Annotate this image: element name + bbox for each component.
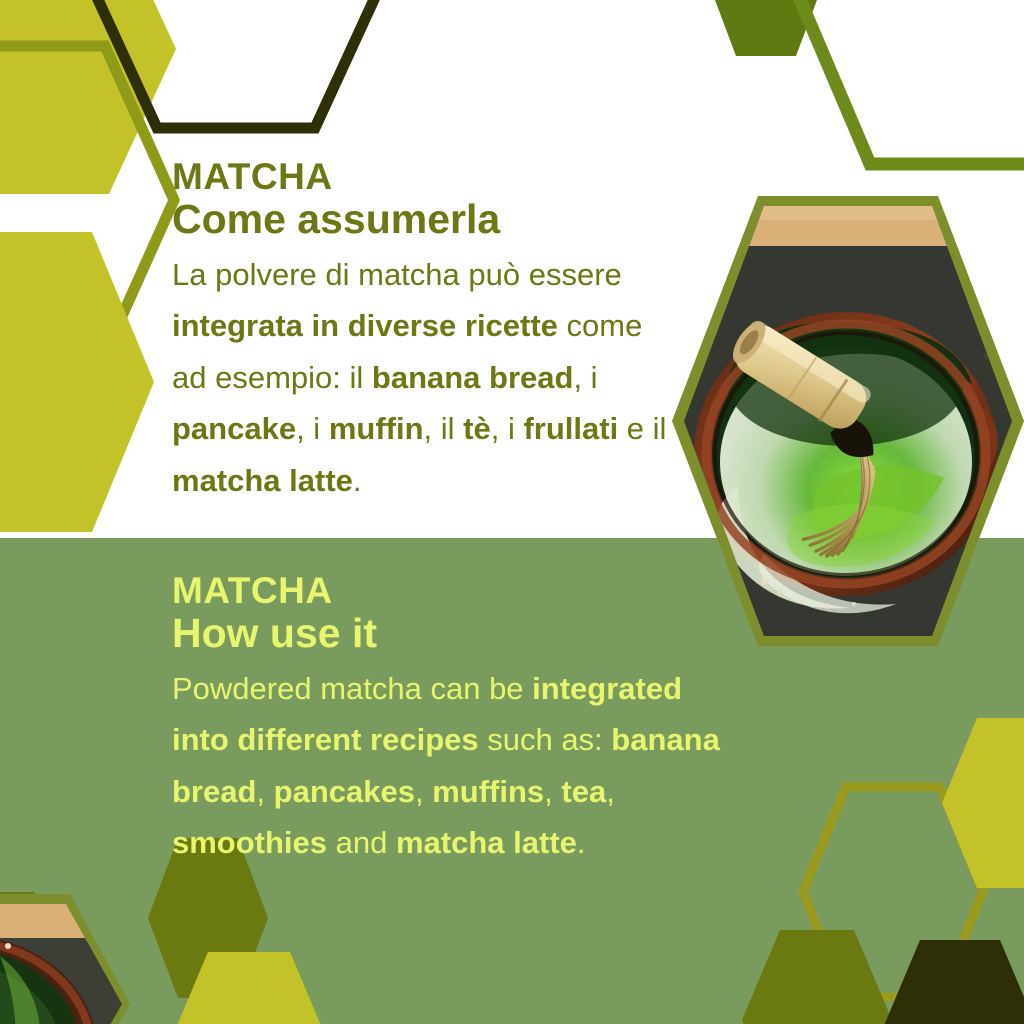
text-layer: MATCHA Come assumerla La polvere di matc… [0,0,1024,1024]
poster-canvas: MATCHA Come assumerla La polvere di matc… [0,0,1024,1024]
italian-body: La polvere di matcha può essere integrat… [172,249,672,506]
italian-kicker: MATCHA [172,158,672,197]
italian-text-block: MATCHA Come assumerla La polvere di matc… [172,158,672,506]
english-body: Powdered matcha can be integrated into d… [172,663,732,869]
english-headline: How use it [172,611,732,657]
english-kicker: MATCHA [172,572,732,611]
english-text-block: MATCHA How use it Powdered matcha can be… [172,572,732,869]
italian-headline: Come assumerla [172,197,672,243]
